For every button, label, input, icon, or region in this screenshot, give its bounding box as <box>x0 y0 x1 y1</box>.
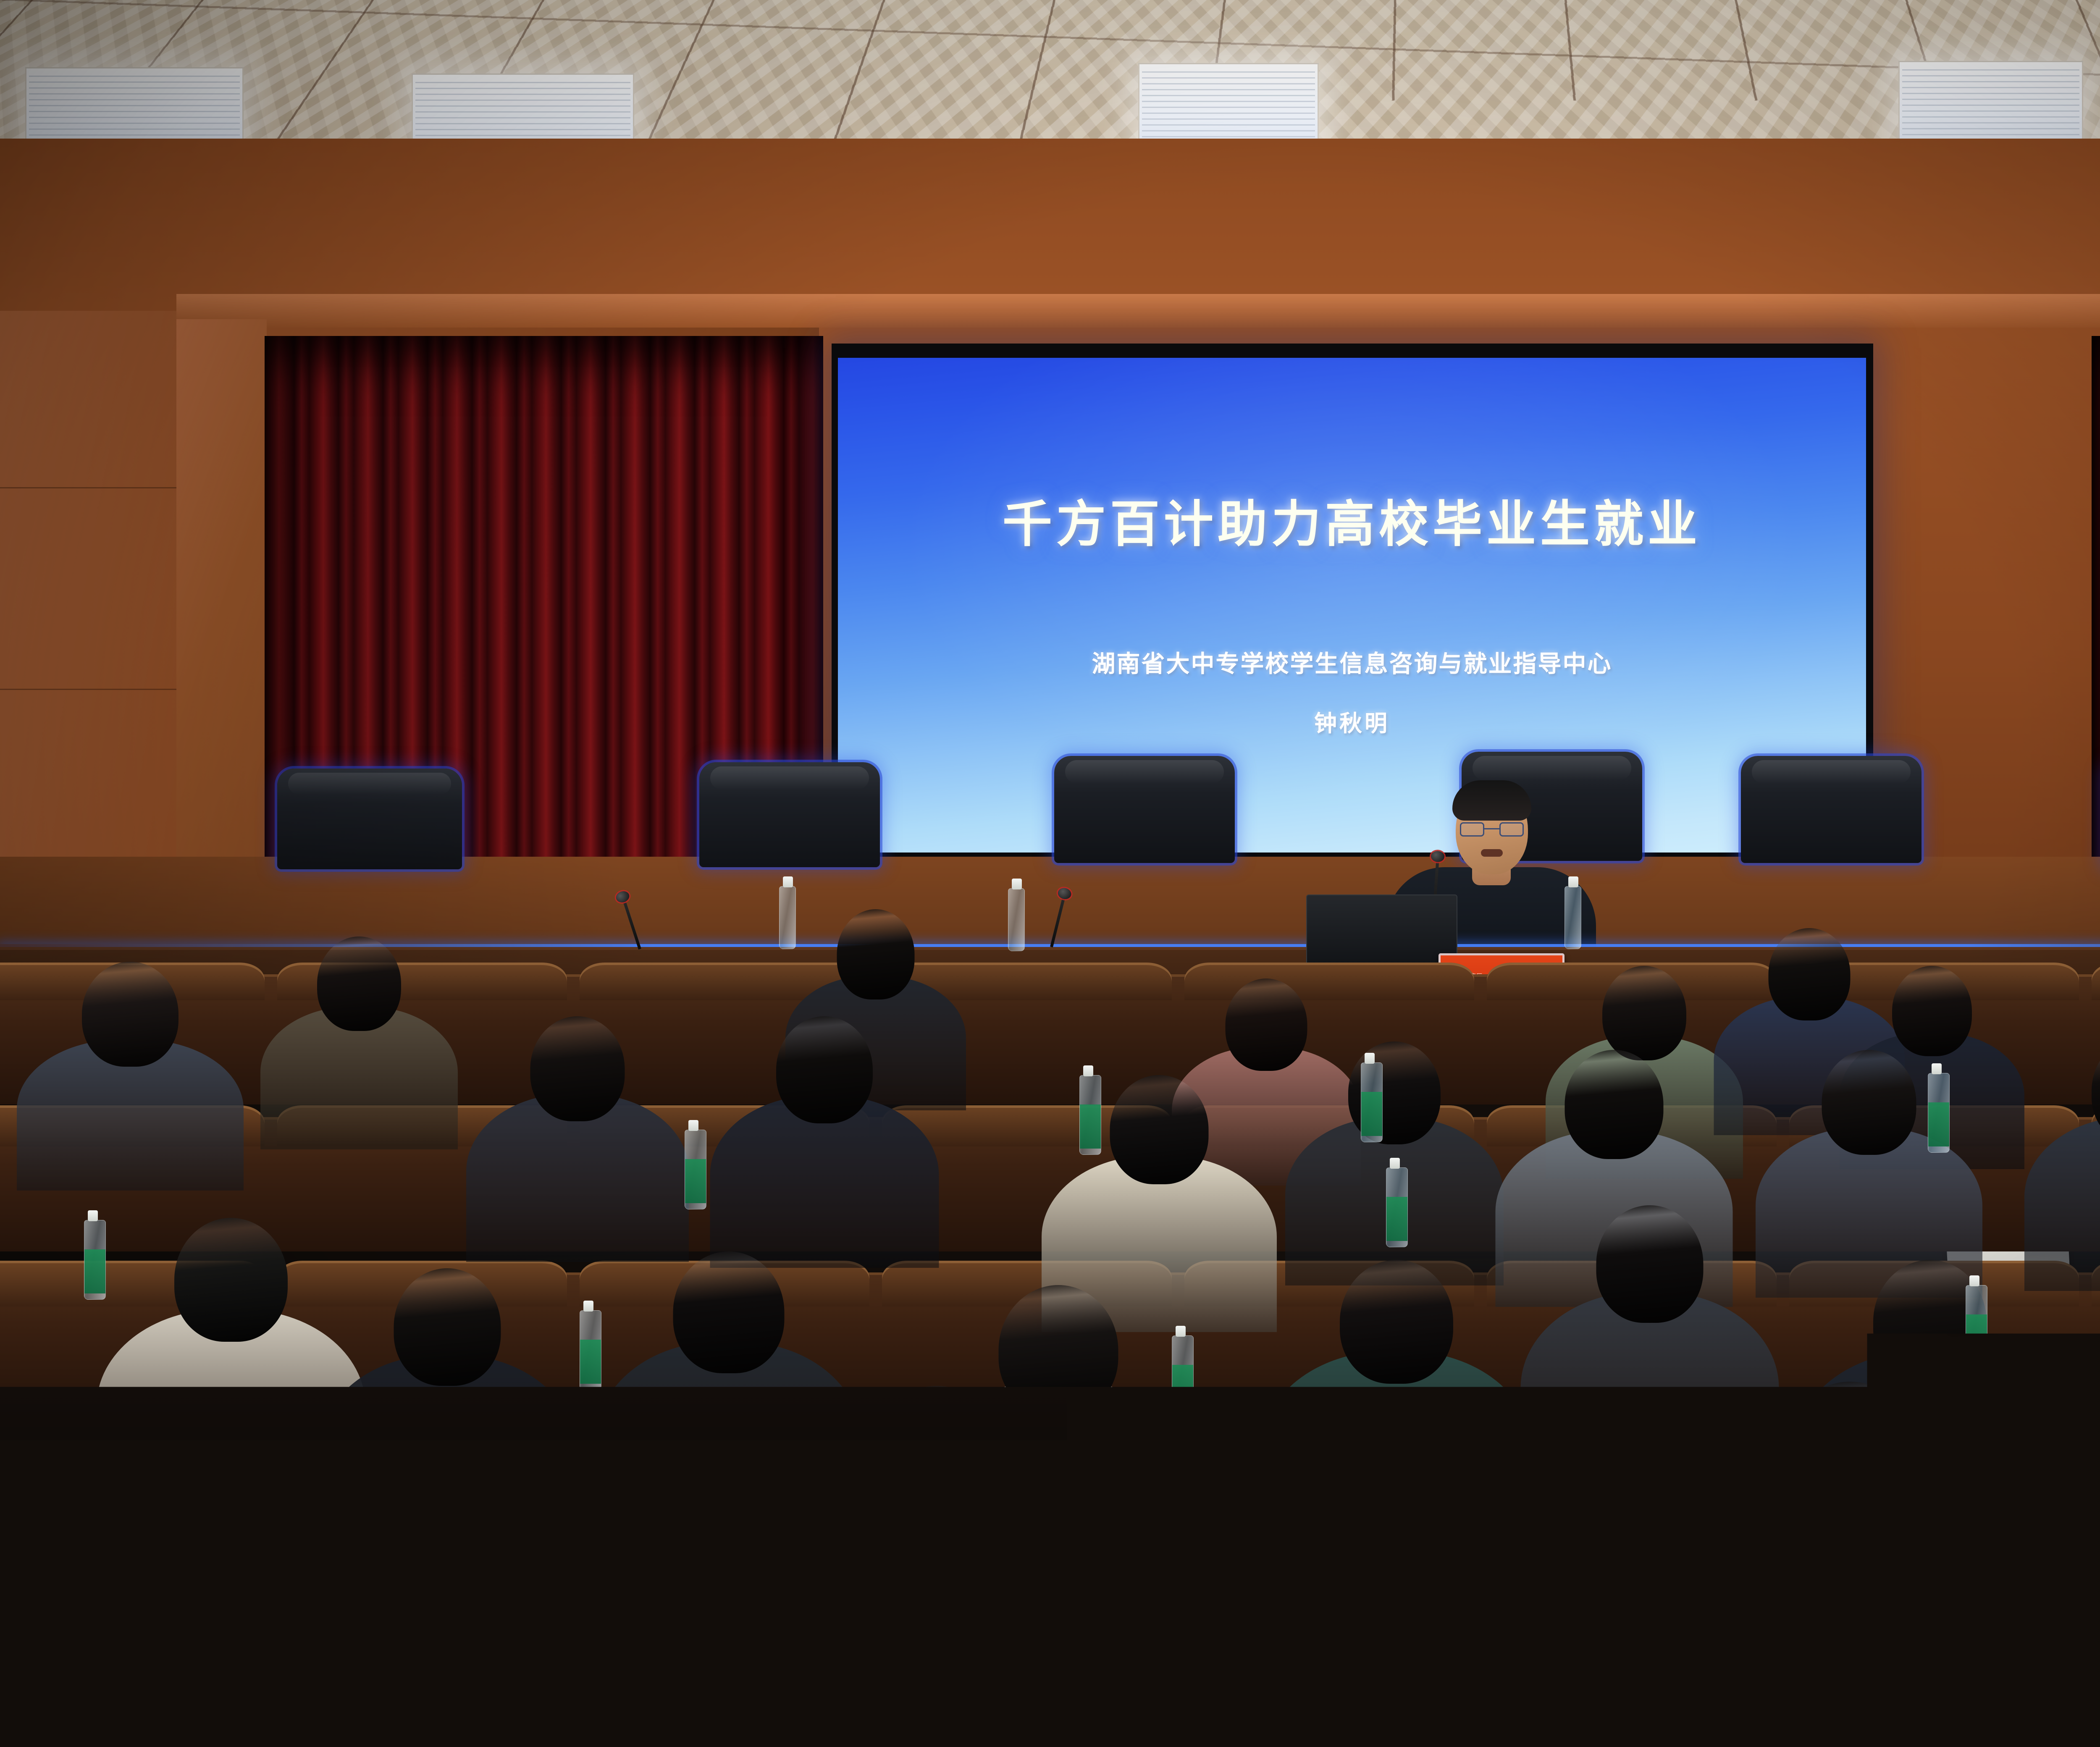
head-table-chair <box>1054 756 1235 863</box>
audience-member-head <box>1389 1453 1517 1594</box>
water-bottle <box>685 1130 706 1209</box>
auditorium-scene-photo: 千方百计助力高校毕业生就业 湖南省大中专学校学生信息咨询与就业指导中心 钟秋明 … <box>0 0 2100 1747</box>
audience-member-head <box>1340 1260 1453 1384</box>
water-bottle <box>779 886 796 949</box>
audience-member-head <box>673 1251 785 1373</box>
audience-member-head <box>1564 1050 1663 1159</box>
screen-glow <box>838 358 1866 853</box>
audience-member-head <box>1768 928 1850 1020</box>
water-bottle <box>1928 1073 1950 1153</box>
audience-member-head <box>530 1016 625 1121</box>
water-bottle <box>84 1220 106 1300</box>
water-bottle <box>580 1310 601 1390</box>
water-bottle <box>1966 1285 1987 1365</box>
audience-member-head <box>837 909 915 999</box>
water-bottle <box>1079 1075 1101 1155</box>
water-bottle <box>1008 888 1025 951</box>
audience-member-head <box>1602 966 1686 1060</box>
proscenium-top-trim <box>176 294 2100 328</box>
audience-member-head <box>174 1218 288 1342</box>
slide-organization: 湖南省大中专学校学生信息咨询与就业指导中心 <box>838 645 1866 679</box>
audience-member-head <box>1782 1382 1919 1531</box>
water-bottle <box>1361 1062 1383 1142</box>
audience-member-head <box>1226 978 1307 1071</box>
audience-member-head <box>1110 1075 1209 1184</box>
audience-member-head <box>394 1268 501 1386</box>
audience-member-head <box>317 936 401 1031</box>
head-table-chair <box>699 762 880 867</box>
slide-title: 千方百计助力高校毕业生就业 <box>838 484 1866 556</box>
speaker-hair <box>1452 780 1531 821</box>
audience-member-head <box>466 1478 592 1617</box>
water-bottle <box>1386 1167 1408 1247</box>
projection-screen: 千方百计助力高校毕业生就业 湖南省大中专学校学生信息咨询与就业指导中心 钟秋明 <box>838 358 1866 853</box>
audience-member-torso <box>2024 1117 2100 1291</box>
water-bottle <box>1428 1554 1450 1634</box>
audience-member <box>260 936 458 1174</box>
water-bottle <box>1172 1335 1194 1415</box>
head-table-chair <box>1741 756 1921 863</box>
head-table-chair <box>277 769 462 869</box>
audience-member-head <box>999 1285 1118 1415</box>
audience-member-head <box>99 1461 229 1604</box>
speaker-mouth <box>1481 849 1503 857</box>
audience-member-head <box>776 1016 873 1123</box>
slide-presenter-name: 钟秋明 <box>838 705 1866 738</box>
water-bottle <box>1564 886 1581 949</box>
audience-member <box>466 1016 689 1289</box>
audience-member-head <box>1892 966 1972 1056</box>
audience-member-head <box>1596 1205 1703 1323</box>
audience-member-head <box>1822 1050 1916 1155</box>
audience-member <box>17 962 244 1218</box>
audience-member-head <box>869 1386 1004 1533</box>
audience-member-head <box>82 962 178 1067</box>
speaker-glasses-icon <box>1460 822 1524 837</box>
